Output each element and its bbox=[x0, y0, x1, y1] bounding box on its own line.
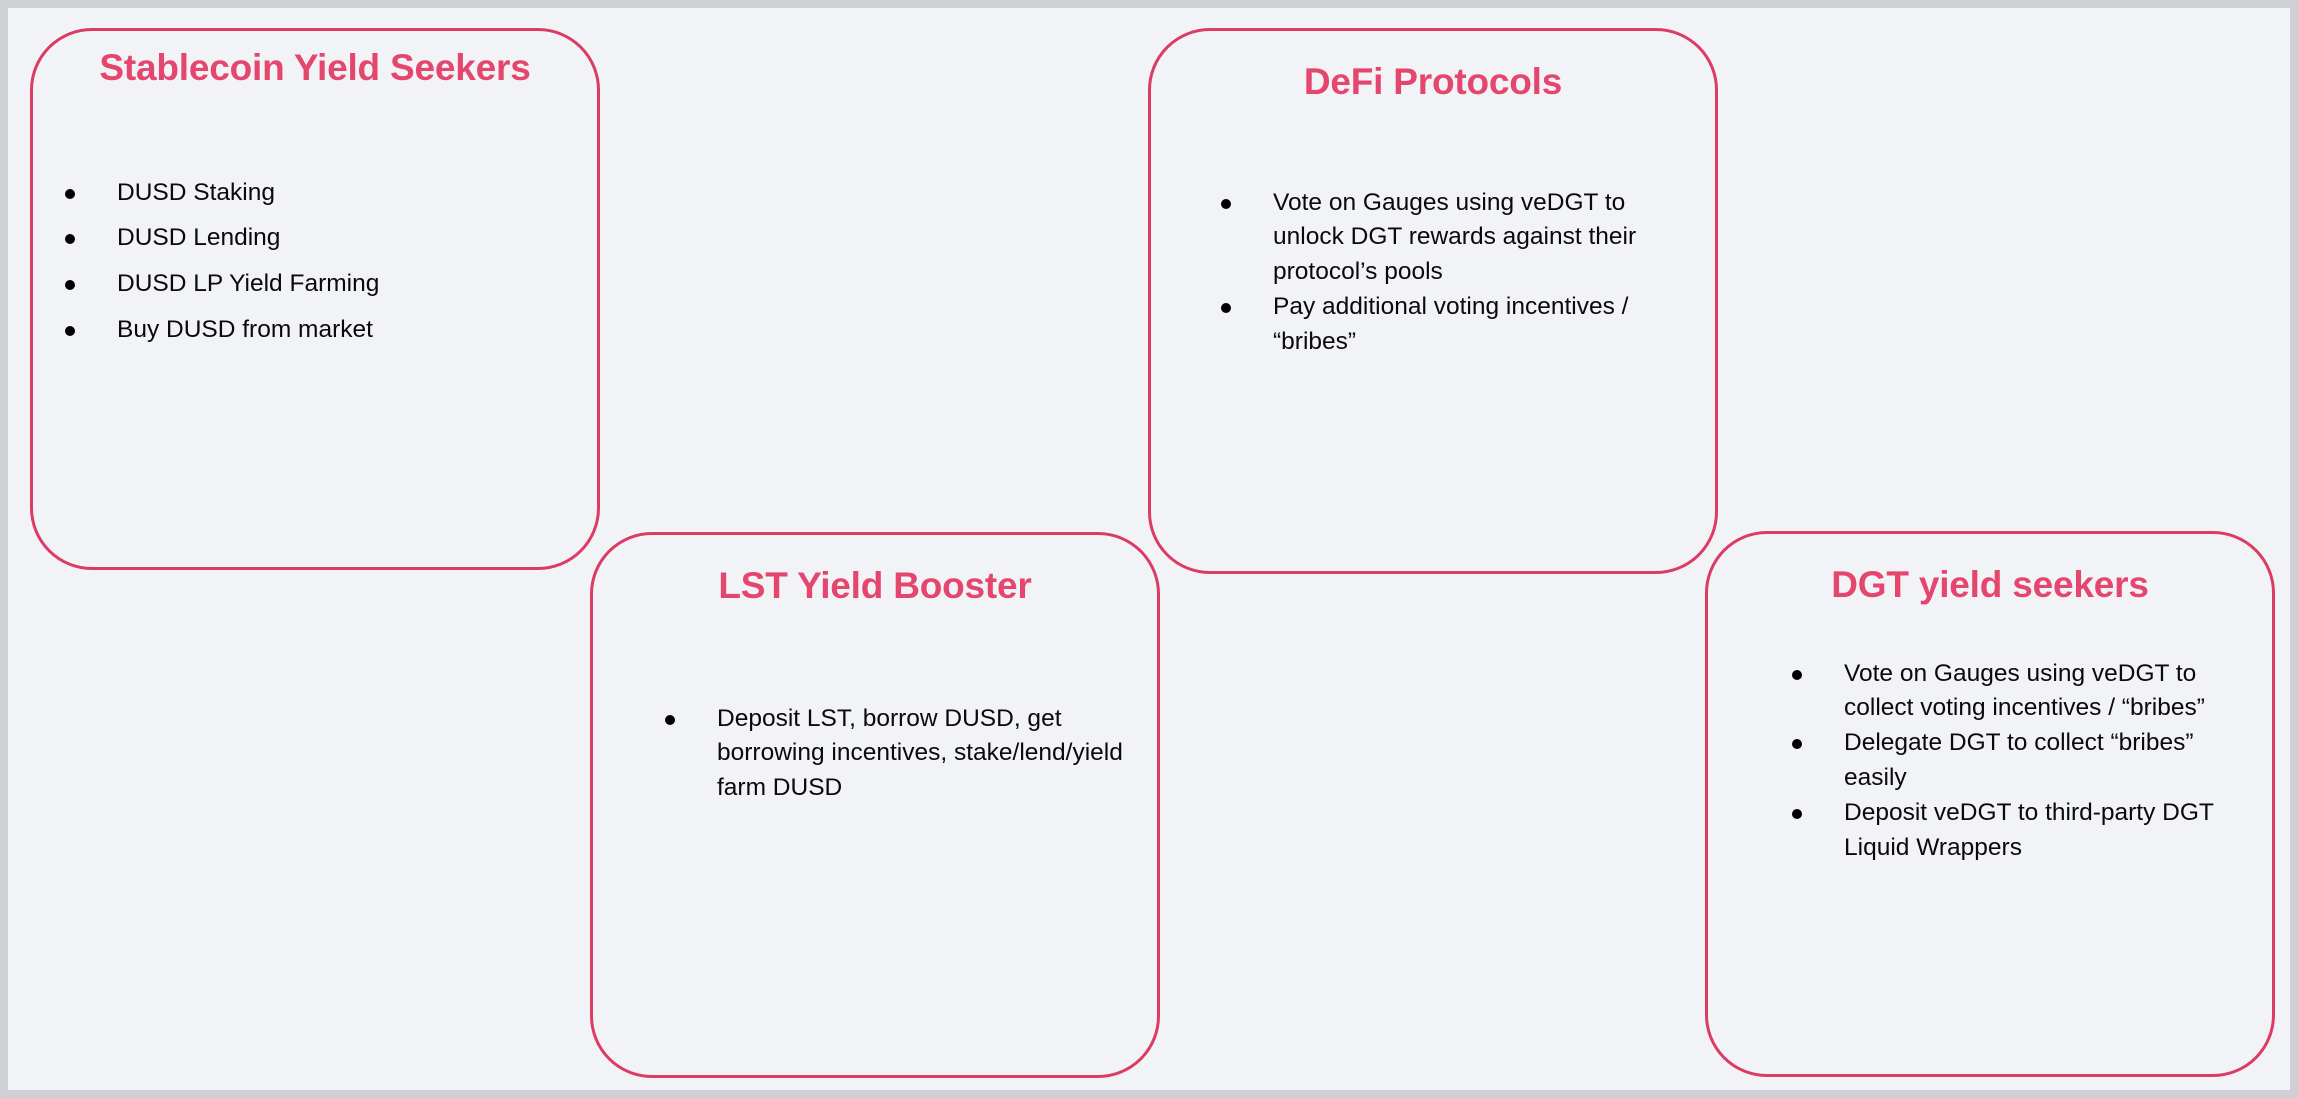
bullet-list: DUSD Staking DUSD Lending DUSD LP Yield … bbox=[33, 176, 597, 348]
list-item-label: Deposit LST, borrow DUSD, get borrowing … bbox=[717, 705, 1123, 802]
list-item: DUSD Lending bbox=[41, 221, 597, 256]
card-title: DGT yield seekers bbox=[1708, 562, 2272, 609]
bullet-dot-icon bbox=[65, 280, 75, 290]
list-item: DUSD LP Yield Farming bbox=[41, 267, 597, 302]
bullet-list: Vote on Gauges using veDGT to collect vo… bbox=[1708, 657, 2272, 866]
bullet-dot-icon bbox=[65, 189, 75, 199]
list-item-label: Buy DUSD from market bbox=[117, 316, 373, 343]
bullet-dot-icon bbox=[1221, 199, 1231, 209]
diagram-canvas: Stablecoin Yield Seekers DUSD Staking DU… bbox=[8, 8, 2290, 1090]
bullet-dot-icon bbox=[1221, 303, 1231, 313]
list-item-label: Vote on Gauges using veDGT to collect vo… bbox=[1844, 660, 2205, 722]
list-item-label: DUSD LP Yield Farming bbox=[117, 270, 379, 297]
list-item: Vote on Gauges using veDGT to unlock DGT… bbox=[1197, 186, 1691, 290]
bullet-dot-icon bbox=[1792, 739, 1802, 749]
card-defi-protocols: DeFi Protocols Vote on Gauges using veDG… bbox=[1148, 28, 1718, 574]
list-item-label: Deposit veDGT to third-party DGT Liquid … bbox=[1844, 799, 2213, 861]
card-dgt-yield-seekers: DGT yield seekers Vote on Gauges using v… bbox=[1705, 531, 2275, 1077]
bullet-dot-icon bbox=[1792, 809, 1802, 819]
bullet-dot-icon bbox=[65, 234, 75, 244]
list-item-label: DUSD Staking bbox=[117, 179, 275, 206]
list-item: Deposit LST, borrow DUSD, get borrowing … bbox=[641, 702, 1141, 806]
bullet-dot-icon bbox=[65, 326, 75, 336]
list-item-label: Delegate DGT to collect “bribes” easily bbox=[1844, 729, 2194, 791]
bullet-list: Vote on Gauges using veDGT to unlock DGT… bbox=[1151, 186, 1715, 360]
list-item: Buy DUSD from market bbox=[41, 313, 597, 348]
list-item: Vote on Gauges using veDGT to collect vo… bbox=[1768, 657, 2262, 727]
bullet-list: Deposit LST, borrow DUSD, get borrowing … bbox=[593, 702, 1157, 806]
card-title: DeFi Protocols bbox=[1151, 59, 1715, 106]
list-item: Delegate DGT to collect “bribes” easily bbox=[1768, 726, 2262, 796]
list-item: Deposit veDGT to third-party DGT Liquid … bbox=[1768, 796, 2262, 866]
list-item-label: Vote on Gauges using veDGT to unlock DGT… bbox=[1273, 189, 1636, 286]
list-item-label: Pay additional voting incentives / “brib… bbox=[1273, 293, 1628, 355]
bullet-dot-icon bbox=[665, 715, 675, 725]
card-stablecoin-yield-seekers: Stablecoin Yield Seekers DUSD Staking DU… bbox=[30, 28, 600, 570]
list-item-label: DUSD Lending bbox=[117, 224, 280, 251]
card-title: LST Yield Booster bbox=[593, 563, 1157, 610]
card-lst-yield-booster: LST Yield Booster Deposit LST, borrow DU… bbox=[590, 532, 1160, 1078]
list-item: DUSD Staking bbox=[41, 176, 597, 211]
card-title: Stablecoin Yield Seekers bbox=[33, 45, 597, 92]
bullet-dot-icon bbox=[1792, 670, 1802, 680]
list-item: Pay additional voting incentives / “brib… bbox=[1197, 290, 1691, 360]
